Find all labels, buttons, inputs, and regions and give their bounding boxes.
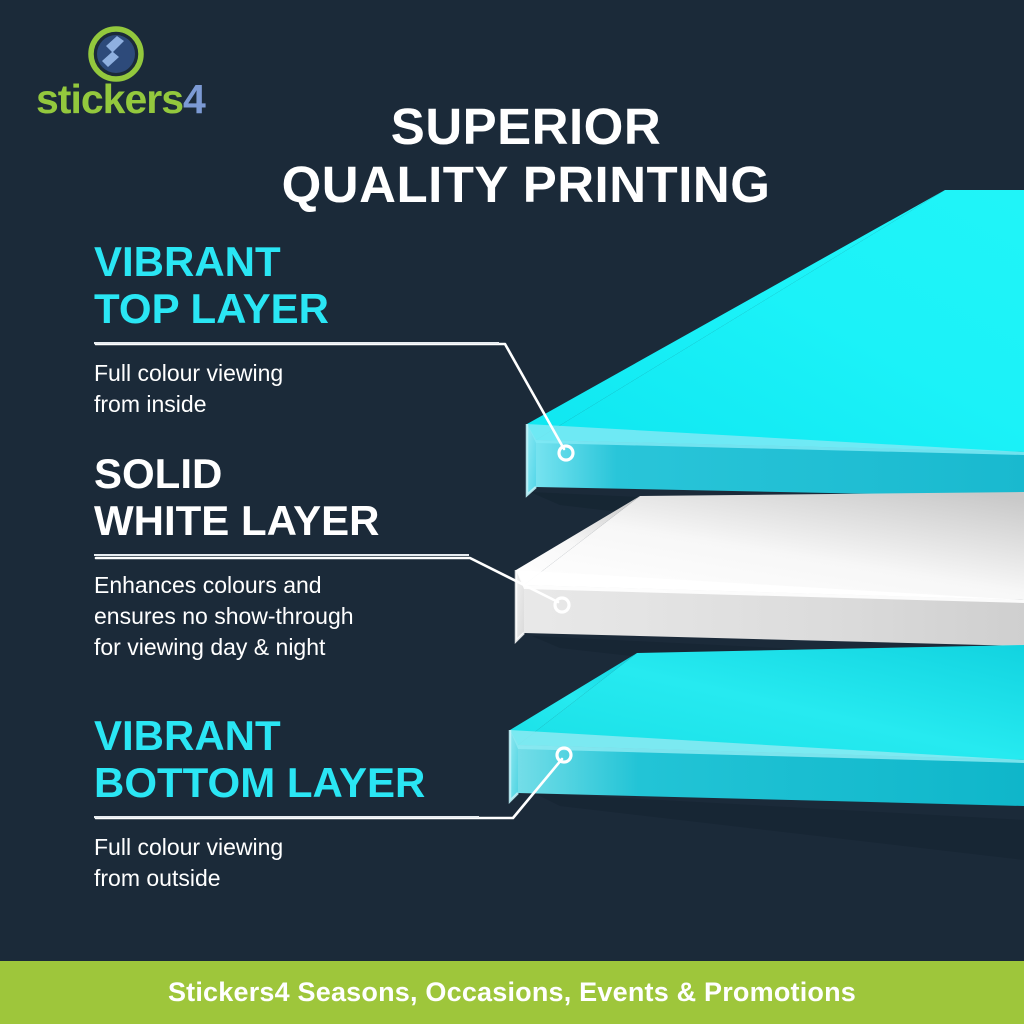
callout-top-layer: VIBRANT TOP LAYER Full colour viewing fr…: [94, 238, 499, 420]
callout-top-title-line1: VIBRANT: [94, 238, 281, 285]
callout-bottom-title-line1: VIBRANT: [94, 712, 281, 759]
callout-white-body-line1: Enhances colours and: [94, 570, 469, 601]
callout-white-title-line2: WHITE LAYER: [94, 497, 469, 544]
callout-bottom-divider: [94, 816, 479, 818]
callout-bottom-body: Full colour viewing from outside: [94, 832, 479, 894]
logo-word-green: stickers: [36, 76, 183, 122]
callout-top-title: VIBRANT TOP LAYER: [94, 238, 499, 332]
callout-top-body: Full colour viewing from inside: [94, 358, 499, 420]
callout-top-body-line1: Full colour viewing: [94, 358, 499, 389]
logo-wordmark: stickers4: [36, 78, 216, 120]
footer-banner: Stickers4 Seasons, Occasions, Events & P…: [0, 961, 1024, 1024]
bottom-cyan-slab: [510, 645, 1024, 860]
callout-top-title-line2: TOP LAYER: [94, 285, 499, 332]
callout-white-divider: [94, 554, 469, 556]
callout-white-title: SOLID WHITE LAYER: [94, 450, 469, 544]
headline-line-1: SUPERIOR: [391, 98, 661, 155]
callout-bottom-layer: VIBRANT BOTTOM LAYER Full colour viewing…: [94, 712, 479, 894]
page-title: SUPERIOR QUALITY PRINTING: [196, 98, 856, 214]
callout-top-divider: [94, 342, 499, 344]
callout-white-body: Enhances colours and ensures no show-thr…: [94, 570, 469, 663]
callout-bottom-body-line2: from outside: [94, 863, 479, 894]
callout-white-title-line1: SOLID: [94, 450, 222, 497]
callout-bottom-title-line2: BOTTOM LAYER: [94, 759, 479, 806]
callout-bottom-title: VIBRANT BOTTOM LAYER: [94, 712, 479, 806]
callout-white-layer: SOLID WHITE LAYER Enhances colours and e…: [94, 450, 469, 663]
callout-white-body-line2: ensures no show-through: [94, 601, 469, 632]
headline-line-2: QUALITY PRINTING: [196, 156, 856, 214]
callout-white-body-line3: for viewing day & night: [94, 632, 469, 663]
brand-logo[interactable]: stickers4: [36, 26, 216, 116]
infographic-canvas: stickers4 SUPERIOR QUALITY PRINTING VIBR…: [0, 0, 1024, 1024]
footer-text: Stickers4 Seasons, Occasions, Events & P…: [168, 977, 856, 1008]
stickers4-circle-mark-icon: [88, 26, 144, 82]
callout-bottom-body-line1: Full colour viewing: [94, 832, 479, 863]
callout-top-body-line2: from inside: [94, 389, 499, 420]
